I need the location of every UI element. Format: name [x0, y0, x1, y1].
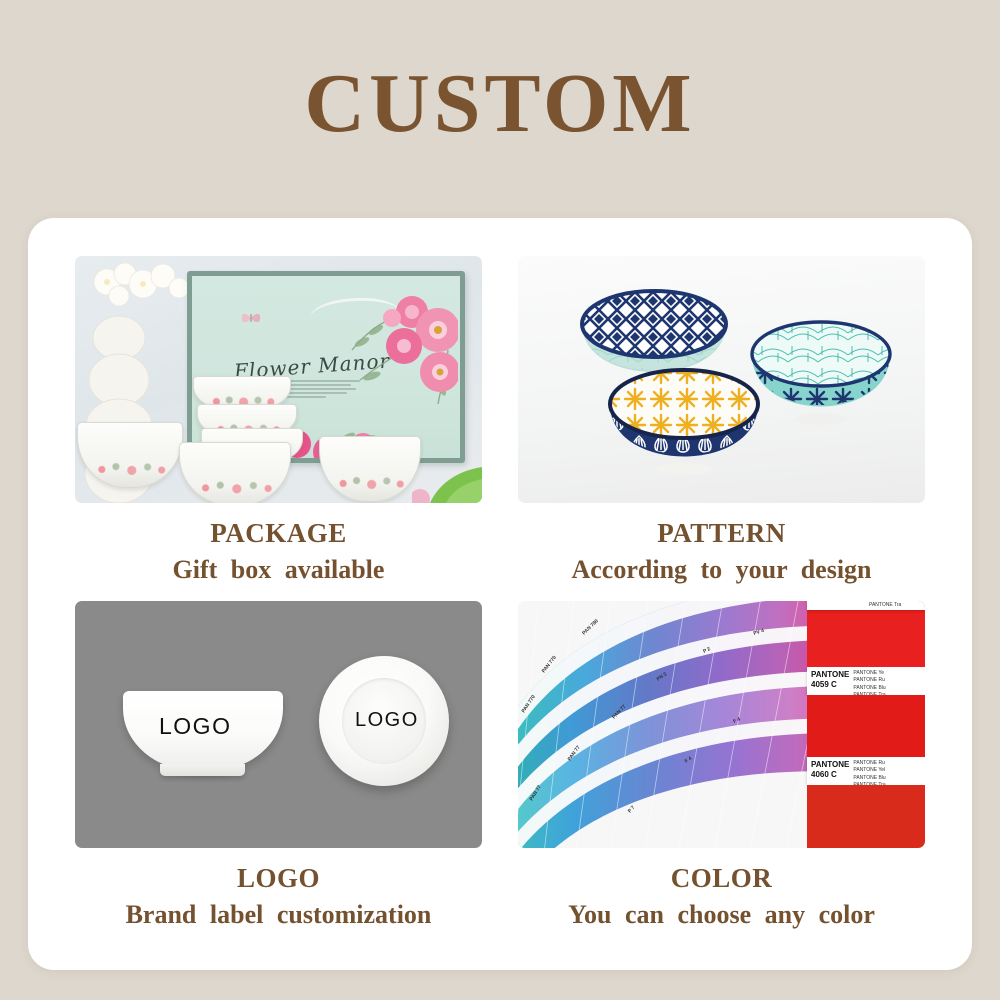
caption-title: LOGO	[75, 862, 482, 896]
white-roses-decor-icon	[91, 260, 187, 320]
red-swatch-mid	[807, 695, 925, 757]
pattern-photo[interactable]	[518, 256, 925, 503]
logo-bowl-foot	[160, 764, 245, 776]
feature-grid: Flower Manor	[75, 256, 925, 946]
caption-subtitle: You can choose any color	[518, 898, 925, 932]
caption-subtitle: Brand label customization	[75, 898, 482, 932]
pantone-card-label: PANTONE 4060 C	[807, 757, 853, 783]
caption-color: COLOR You can choose any color	[518, 862, 925, 932]
logo-mark-side: LOGO	[159, 713, 231, 740]
package-photo[interactable]: Flower Manor	[75, 256, 482, 503]
svg-text:PAN 780: PAN 780	[581, 618, 600, 636]
color-photo[interactable]: PAN 770 PAN 770 PAN 780 PAN 77 PAN 77 PA…	[518, 601, 925, 848]
caption-title: PATTERN	[518, 517, 925, 551]
logo-photo[interactable]: LOGO LOGO	[75, 601, 482, 848]
feature-card: Flower Manor	[28, 218, 972, 970]
caption-subtitle: Gift box available	[75, 553, 482, 587]
caption-package: PACKAGE Gift box available	[75, 517, 482, 587]
red-swatch-bottom	[807, 785, 925, 848]
caption-subtitle: According to your design	[518, 553, 925, 587]
pantone-card-top-partial: PANTONE Tra	[807, 601, 925, 610]
pantone-partial-line: PANTONE Tra	[869, 602, 901, 609]
page-title: CUSTOM	[0, 62, 1000, 146]
teal-leaf-bowl	[748, 320, 894, 428]
pantone-card-4059: PANTONE 4059 C PANTONE Ye PANTONE Ru PAN…	[807, 667, 925, 695]
logo-mark-top: LOGO	[355, 709, 419, 732]
pantone-card-4060: PANTONE 4060 C PANTONE Ru PANTONE Yel PA…	[807, 757, 925, 785]
caption-pattern: PATTERN According to your design	[518, 517, 925, 587]
red-swatch-top	[807, 609, 925, 667]
feature-cell-logo: LOGO LOGO LOGO Brand label customization	[75, 601, 482, 946]
yellow-floral-bowl	[606, 368, 762, 478]
caption-logo: LOGO Brand label customization	[75, 862, 482, 932]
peony-cluster-icon	[342, 284, 458, 414]
floral-bowl-right	[319, 436, 421, 502]
pantone-card-label: PANTONE 4059 C	[807, 667, 853, 693]
caption-title: PACKAGE	[75, 517, 482, 551]
infographic-page: CUSTOM	[0, 0, 1000, 1000]
feature-cell-package: Flower Manor	[75, 256, 482, 601]
leaf-decor-icon	[412, 459, 482, 503]
feature-cell-pattern: PATTERN According to your design	[518, 256, 925, 601]
butterfly-icon	[240, 311, 262, 325]
svg-text:P 7: P 7	[627, 805, 637, 815]
caption-title: COLOR	[518, 862, 925, 896]
patterned-bowls-illustration	[518, 256, 925, 503]
feature-cell-color: PAN 770 PAN 770 PAN 780 PAN 77 PAN 77 PA…	[518, 601, 925, 946]
floral-bowl-center	[179, 442, 291, 503]
